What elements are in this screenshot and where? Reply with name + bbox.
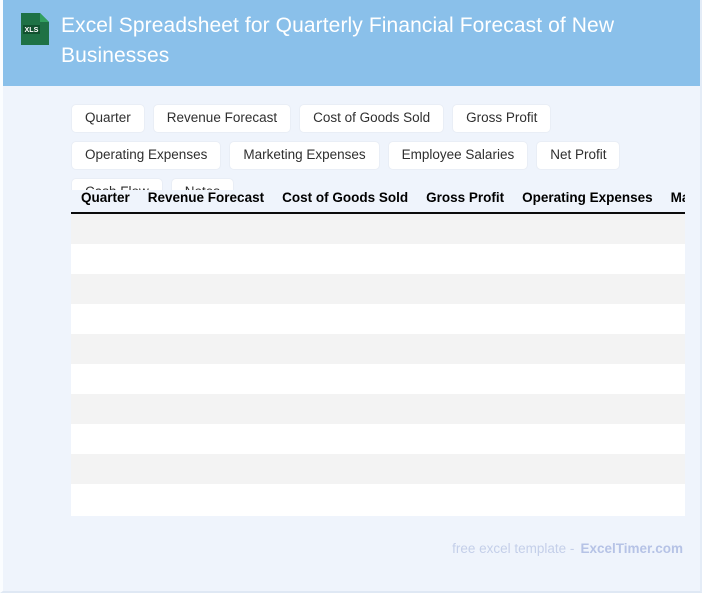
table-cell[interactable] [417,274,513,304]
table-cell[interactable] [662,244,685,274]
page-header: XLS Excel Spreadsheet for Quarterly Fina… [3,0,700,86]
table-cell[interactable] [662,364,685,394]
chip-gross-profit[interactable]: Gross Profit [452,104,551,133]
table-cell[interactable] [662,304,685,334]
table-cell[interactable] [662,484,685,514]
table-cell[interactable] [71,213,139,244]
table-cell[interactable] [139,454,273,484]
table-cell[interactable] [662,454,685,484]
table-cell[interactable] [273,334,417,364]
table-row[interactable] [71,454,685,484]
table-cell[interactable] [273,394,417,424]
table-cell[interactable] [513,424,662,454]
chip-revenue-forecast[interactable]: Revenue Forecast [153,104,291,133]
table-row[interactable] [71,394,685,424]
table-column-header[interactable]: Marketing Expenses [662,190,685,213]
table-cell[interactable] [273,304,417,334]
table-row[interactable] [71,334,685,364]
table-cell[interactable] [513,274,662,304]
table-cell[interactable] [513,364,662,394]
chip-marketing-expenses[interactable]: Marketing Expenses [229,141,379,170]
page-root: XLS Excel Spreadsheet for Quarterly Fina… [0,0,702,593]
table-column-header[interactable]: Gross Profit [417,190,513,213]
spreadsheet-table-container[interactable]: QuarterRevenue ForecastCost of Goods Sol… [71,190,685,516]
table-cell[interactable] [273,244,417,274]
table-cell[interactable] [417,424,513,454]
footer-credit: free excel template -ExcelTimer.com [452,541,683,556]
table-cell[interactable] [662,394,685,424]
table-cell[interactable] [71,424,139,454]
table-cell[interactable] [71,454,139,484]
table-cell[interactable] [71,394,139,424]
table-cell[interactable] [139,484,273,514]
table-header-row: QuarterRevenue ForecastCost of Goods Sol… [71,190,685,213]
table-cell[interactable] [139,304,273,334]
table-cell[interactable] [273,364,417,394]
chip-quarter[interactable]: Quarter [71,104,145,133]
table-cell[interactable] [71,364,139,394]
xls-file-icon: XLS [20,12,50,46]
footer-text: free excel template - [452,541,574,556]
chip-operating-expenses[interactable]: Operating Expenses [71,141,221,170]
footer-brand-link[interactable]: ExcelTimer.com [580,541,683,556]
table-cell[interactable] [71,244,139,274]
table-cell[interactable] [417,454,513,484]
table-cell[interactable] [273,454,417,484]
table-cell[interactable] [513,394,662,424]
svg-text:XLS: XLS [25,25,39,34]
table-cell[interactable] [273,484,417,514]
table-cell[interactable] [273,274,417,304]
table-cell[interactable] [662,424,685,454]
table-row[interactable] [71,213,685,244]
table-cell[interactable] [417,484,513,514]
table-cell[interactable] [662,213,685,244]
table-cell[interactable] [71,334,139,364]
table-cell[interactable] [513,334,662,364]
table-cell[interactable] [513,244,662,274]
table-cell[interactable] [139,213,273,244]
table-cell[interactable] [513,304,662,334]
table-row[interactable] [71,424,685,454]
table-header: QuarterRevenue ForecastCost of Goods Sol… [71,190,685,213]
table-cell[interactable] [71,484,139,514]
table-cell[interactable] [273,424,417,454]
spreadsheet-table: QuarterRevenue ForecastCost of Goods Sol… [71,190,685,514]
table-cell[interactable] [417,334,513,364]
table-cell[interactable] [139,394,273,424]
chip-employee-salaries[interactable]: Employee Salaries [388,141,529,170]
table-column-header[interactable]: Cost of Goods Sold [273,190,417,213]
table-cell[interactable] [273,213,417,244]
table-column-header[interactable]: Operating Expenses [513,190,662,213]
page-title: Excel Spreadsheet for Quarterly Financia… [20,11,682,71]
table-cell[interactable] [71,274,139,304]
table-cell[interactable] [513,484,662,514]
table-cell[interactable] [139,244,273,274]
table-cell[interactable] [417,304,513,334]
table-cell[interactable] [139,424,273,454]
table-cell[interactable] [662,274,685,304]
table-cell[interactable] [139,364,273,394]
table-cell[interactable] [513,454,662,484]
table-cell[interactable] [417,213,513,244]
table-cell[interactable] [139,274,273,304]
table-cell[interactable] [417,244,513,274]
table-body [71,213,685,514]
table-column-header[interactable]: Revenue Forecast [139,190,273,213]
table-cell[interactable] [139,334,273,364]
table-column-header[interactable]: Quarter [71,190,139,213]
chip-cost-of-goods-sold[interactable]: Cost of Goods Sold [299,104,444,133]
table-cell[interactable] [513,213,662,244]
table-row[interactable] [71,484,685,514]
table-cell[interactable] [417,394,513,424]
table-cell[interactable] [71,304,139,334]
table-row[interactable] [71,364,685,394]
table-row[interactable] [71,304,685,334]
chip-net-profit[interactable]: Net Profit [536,141,620,170]
table-cell[interactable] [417,364,513,394]
table-cell[interactable] [662,334,685,364]
table-row[interactable] [71,244,685,274]
table-row[interactable] [71,274,685,304]
